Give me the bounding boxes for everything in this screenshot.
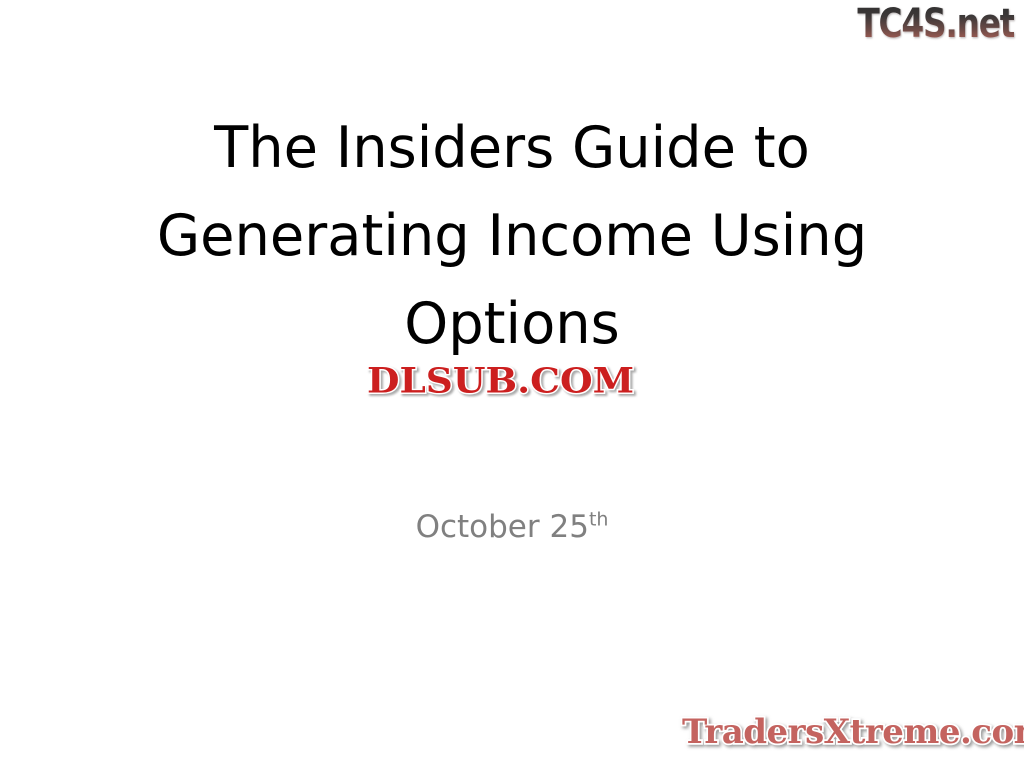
dlsub-com-watermark: DLSUB.COM — [367, 362, 634, 400]
slide-canvas: TC4S.net The Insiders Guide to Generatin… — [0, 0, 1024, 768]
tradersxtreme-com-logo[interactable]: TradersXtreme.com — [682, 712, 1024, 752]
subtitle-date-text: October 25 — [416, 509, 589, 545]
title-line-1: The Insiders Guide to — [71, 104, 953, 192]
slide-subtitle: October 25th — [62, 506, 962, 548]
title-line-2: Generating Income Using — [71, 192, 953, 280]
tc4s-net-logo[interactable]: TC4S.net — [857, 2, 1014, 46]
slide-title: The Insiders Guide to Generating Income … — [62, 104, 962, 368]
subtitle-ordinal-suffix: th — [589, 509, 609, 531]
title-line-3: Options — [71, 280, 953, 368]
